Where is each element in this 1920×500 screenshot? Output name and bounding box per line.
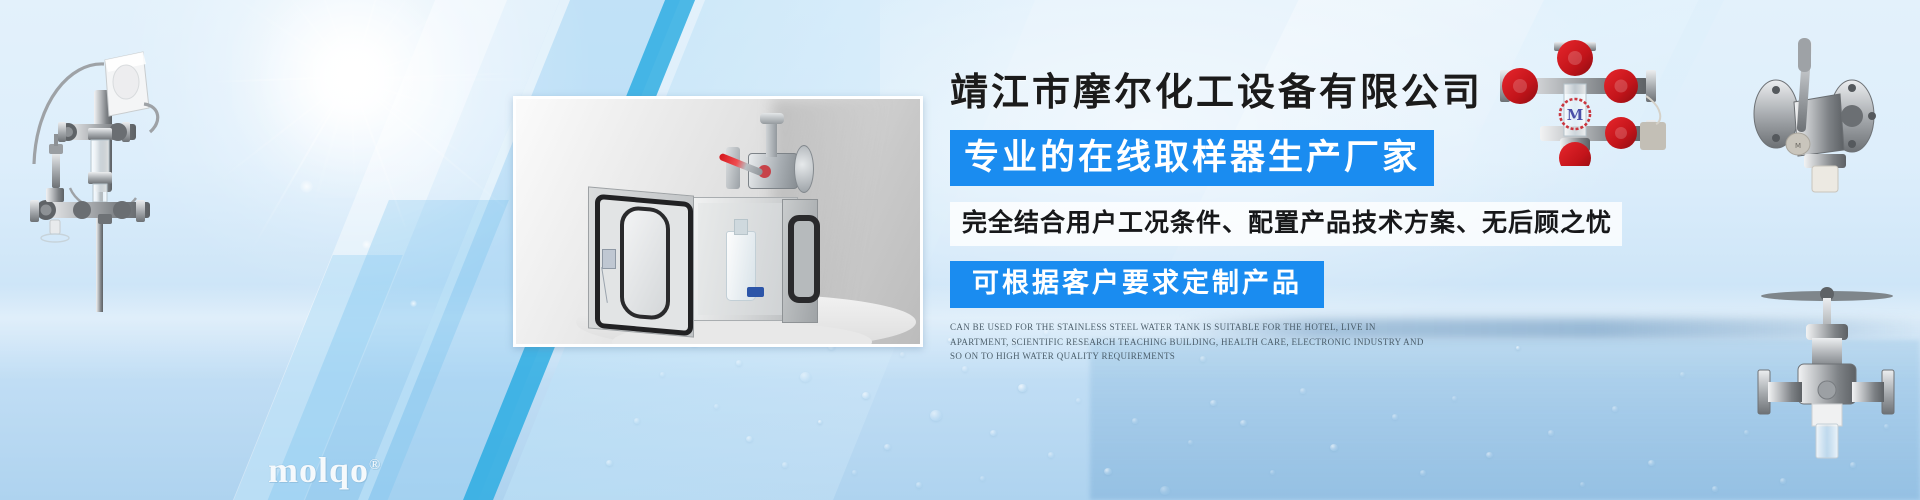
water-droplet	[800, 372, 811, 382]
water-droplet	[1018, 384, 1027, 392]
water-droplet	[930, 410, 942, 421]
water-droplet	[1188, 440, 1193, 445]
cabinet-door-lock	[602, 249, 616, 269]
watermark-logo: molqo®	[268, 452, 381, 488]
water-droplet	[1680, 372, 1685, 377]
subline-badge: 完全结合用户工况条件、配置产品技术方案、无后顾之忧	[950, 202, 1622, 246]
sample-bottle-neck	[734, 219, 748, 235]
sample-bottle-cap	[747, 287, 764, 297]
svg-text:M: M	[1795, 142, 1801, 150]
valve-flange-left	[726, 147, 740, 189]
water-droplet	[660, 372, 665, 377]
cabinet-door-window	[620, 205, 670, 321]
valve-stem	[766, 121, 777, 157]
water-droplet	[736, 360, 742, 366]
water-droplet	[916, 482, 922, 488]
company-title: 靖江市摩尔化工设备有限公司	[950, 74, 1670, 112]
water-droplet	[884, 444, 891, 450]
water-droplet	[980, 476, 985, 481]
cta-badge[interactable]: 可根据客户要求定制产品	[950, 261, 1324, 308]
sampler-valve-assembly	[724, 117, 816, 199]
water-droplet	[1270, 470, 1275, 475]
water-droplet	[962, 366, 968, 372]
lens-flare-dot-2	[362, 240, 371, 249]
headline-badge: 专业的在线取样器生产厂家	[950, 130, 1434, 186]
water-droplet	[1612, 406, 1618, 412]
registered-mark-icon: ®	[369, 457, 381, 473]
water-droplet	[782, 462, 788, 468]
water-droplet	[1580, 482, 1585, 487]
lens-flare-dot-3	[410, 300, 417, 307]
water-droplet	[714, 404, 719, 409]
promo-banner: M M 靖江市摩尔化工设备有限公司	[0, 0, 1920, 500]
banner-text-column: 靖江市摩尔化工设备有限公司 专业的在线取样器生产厂家 完全结合用户工况条件、配置…	[950, 74, 1670, 364]
water-droplet	[1420, 470, 1426, 476]
water-droplet	[1300, 388, 1306, 394]
english-description: CAN BE USED FOR THE STAINLESS STEEL WATE…	[950, 320, 1432, 364]
left-equipment-image	[10, 24, 190, 314]
water-droplet	[1132, 418, 1138, 424]
water-droplet	[900, 352, 905, 357]
water-droplet	[1452, 396, 1457, 401]
water-droplet	[634, 418, 640, 424]
water-droplet	[990, 430, 997, 436]
watermark-text: molqo	[268, 450, 369, 490]
water-droplet	[1048, 452, 1054, 458]
product-photo	[513, 96, 923, 347]
right-lever-valve-image: M	[1712, 24, 1912, 194]
water-droplet	[1780, 478, 1786, 484]
cabinet-handle	[788, 215, 820, 303]
water-droplet	[818, 420, 822, 424]
right-gate-valve-image	[1742, 278, 1912, 468]
water-droplet	[852, 470, 857, 475]
lens-flare-dot-1	[300, 180, 313, 193]
water-droplet	[1548, 430, 1554, 436]
water-droplet	[1076, 398, 1081, 403]
valve-flange-right	[794, 145, 814, 193]
water-droplet	[1392, 414, 1398, 420]
valve-knob	[760, 113, 784, 124]
water-droplet	[1712, 486, 1718, 492]
